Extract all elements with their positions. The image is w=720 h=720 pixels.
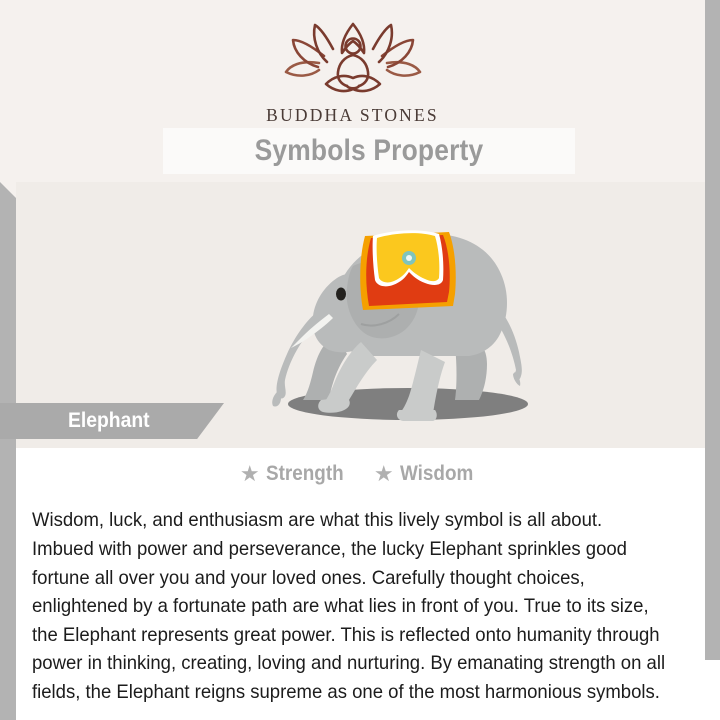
- star-icon: ★: [374, 463, 394, 485]
- saddle-gem-highlight: [406, 255, 412, 261]
- brand-name: BUDDHA STONES: [0, 105, 705, 126]
- star-icon: ★: [240, 463, 260, 485]
- frame-right-rail: [705, 0, 720, 660]
- attribute-label: Strength: [266, 462, 344, 486]
- page-title: Symbols Property: [255, 134, 484, 168]
- symbol-description: Wisdom, luck, and enthusiasm are what th…: [32, 506, 666, 706]
- elephant-eye: [336, 288, 346, 301]
- symbols-property-poster: BUDDHA STONES Symbols Property: [0, 0, 720, 720]
- frame-corner-notch: [0, 182, 17, 199]
- elephant-hind-foot: [397, 410, 437, 421]
- brand-logo: BUDDHA STONES: [0, 16, 705, 126]
- lotus-meditation-icon: [0, 16, 705, 103]
- symbol-name-banner: Elephant: [0, 403, 224, 439]
- symbol-name: Elephant: [68, 409, 150, 433]
- attribute-item: ★ Wisdom: [374, 462, 481, 486]
- attribute-item: ★ Strength: [240, 462, 352, 486]
- elephant-illustration: [233, 186, 583, 436]
- attributes-row: ★ Strength ★ Wisdom: [16, 462, 705, 486]
- attribute-label: Wisdom: [400, 462, 473, 486]
- title-banner: Symbols Property: [163, 128, 575, 174]
